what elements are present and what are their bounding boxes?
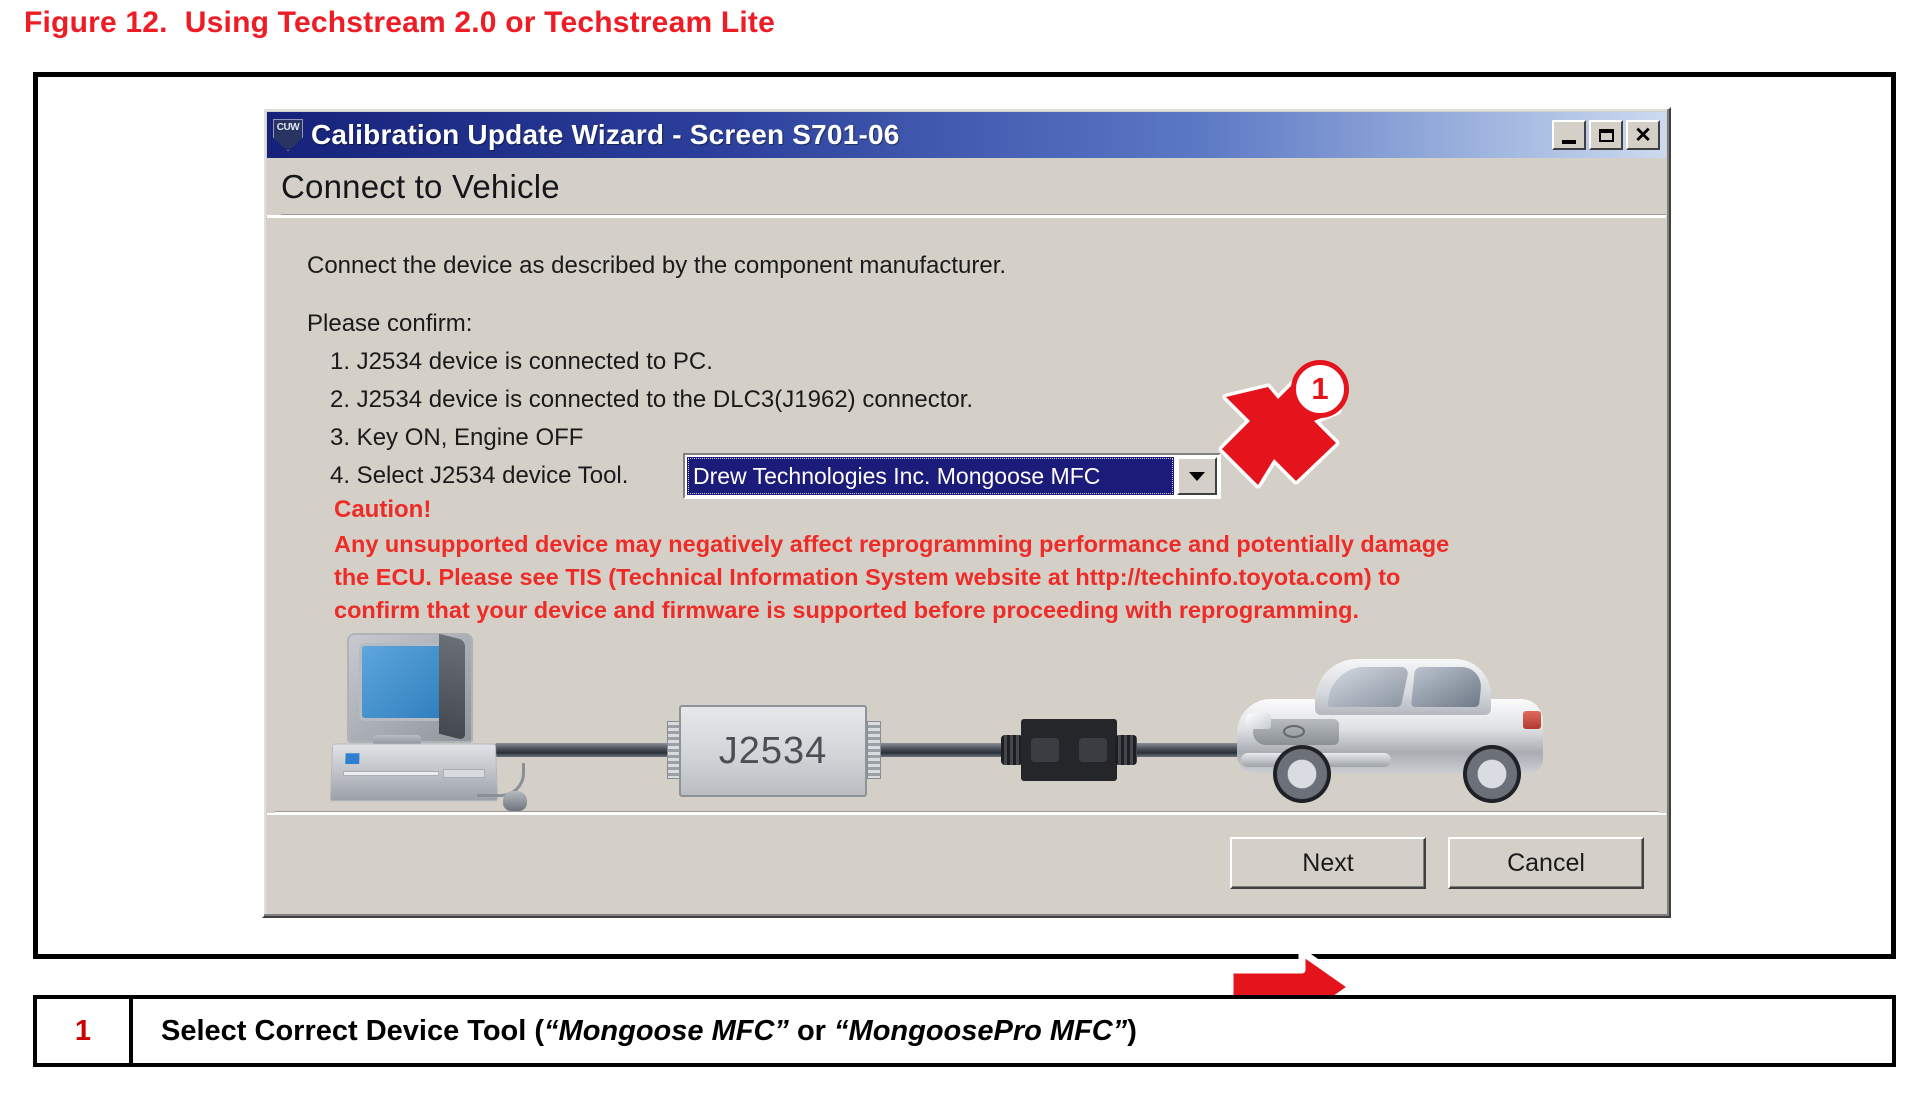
intro-instruction: Connect the device as described by the c… [307, 252, 1006, 280]
caption-quote-2: “MongoosePro MFC” [834, 1015, 1127, 1048]
vehicle-emblem [1283, 725, 1305, 738]
monitor-side-panel [439, 634, 465, 740]
dialog-body: Connect the device as described by the c… [267, 217, 1666, 863]
vehicle-rear-wheel [1463, 745, 1521, 803]
cable-segment-j2534-to-connector [863, 743, 1021, 757]
caution-title: Caution! [334, 496, 431, 524]
dialog-title-text: Calibration Update Wizard - Screen S701-… [311, 119, 900, 151]
minimize-icon [1562, 140, 1576, 144]
next-button[interactable]: Next [1230, 837, 1426, 889]
caption-text-cell: Select Correct Device Tool (“Mongoose MF… [133, 999, 1892, 1063]
figure-frame: CUW Calibration Update Wizard - Screen S… [33, 72, 1896, 959]
minimize-button[interactable] [1552, 120, 1586, 150]
close-button[interactable]: ✕ [1626, 120, 1660, 150]
j2534-box-label: J2534 [719, 730, 828, 773]
window-controls: ✕ [1552, 120, 1662, 150]
cuw-shield-icon: CUW [273, 119, 303, 151]
dlc-boot-left [1001, 735, 1023, 765]
caption-text-prefix: Select Correct Device Tool ( [161, 1015, 544, 1048]
vehicle-icon [1227, 641, 1557, 816]
pc-floppy-slot [343, 771, 439, 776]
dlc3-connector-icon [1021, 719, 1117, 781]
maximize-button[interactable] [1589, 120, 1623, 150]
device-dropdown-selected-value[interactable]: Drew Technologies Inc. Mongoose MFC [687, 457, 1174, 495]
confirm-item-1: 1. J2534 device is connected to PC. [330, 348, 713, 376]
vehicle-front-wheel [1273, 745, 1331, 803]
caption-number-cell: 1 [37, 999, 133, 1063]
j2534-right-connector [867, 721, 881, 779]
vehicle-taillight [1523, 711, 1541, 729]
dialog-titlebar[interactable]: CUW Calibration Update Wizard - Screen S… [267, 112, 1666, 158]
figure-caption-table: 1 Select Correct Device Tool (“Mongoose … [33, 995, 1896, 1067]
figure-title: Figure 12. Using Techstream 2.0 or Techs… [24, 6, 775, 40]
cancel-button[interactable]: Cancel [1448, 837, 1644, 889]
dialog-button-bar: Next Cancel [267, 813, 1666, 913]
cuw-shield-icon-text: CUW [273, 122, 303, 133]
confirm-lead-label: Please confirm: [307, 310, 472, 338]
caution-line-1: Any unsupported device may negatively af… [334, 528, 1624, 561]
dialog-header: Connect to Vehicle [267, 159, 1666, 217]
callout-badge-1: 1 [1291, 360, 1349, 418]
mouse-icon [503, 791, 527, 811]
confirm-item-2: 2. J2534 device is connected to the DLC3… [330, 386, 973, 414]
j2534-device-tool-dropdown[interactable]: Drew Technologies Inc. Mongoose MFC [683, 453, 1221, 499]
vehicle-headlight [1245, 713, 1271, 729]
caution-line-2: the ECU. Please see TIS (Technical Infor… [334, 561, 1624, 594]
close-icon: ✕ [1634, 125, 1652, 146]
page-title: Connect to Vehicle [281, 168, 560, 206]
pc-power-led [345, 753, 359, 764]
caption-quote-1: “Mongoose MFC” [544, 1015, 789, 1048]
cable-segment-pc-to-j2534 [495, 743, 679, 757]
dlc-boot-right [1115, 735, 1137, 765]
j2534-interface-box: J2534 [679, 705, 867, 797]
connection-diagram-illustration: J2534 [327, 623, 1617, 833]
vehicle-rear-window [1411, 667, 1483, 707]
chevron-down-icon[interactable] [1177, 457, 1217, 495]
maximize-icon [1599, 129, 1614, 142]
caption-joiner: or [789, 1015, 834, 1048]
calibration-update-wizard-dialog: CUW Calibration Update Wizard - Screen S… [262, 107, 1671, 918]
caution-body: Any unsupported device may negatively af… [334, 528, 1624, 627]
button-bar-separator [275, 811, 1658, 813]
pc-tower-icon [330, 744, 498, 802]
confirm-item-4: 4. Select J2534 device Tool. [330, 462, 628, 490]
confirm-item-3: 3. Key ON, Engine OFF [330, 424, 583, 452]
monitor-screen [359, 643, 445, 721]
figure-page: Figure 12. Using Techstream 2.0 or Techs… [0, 0, 1921, 1094]
caption-text-suffix: ) [1127, 1015, 1137, 1048]
